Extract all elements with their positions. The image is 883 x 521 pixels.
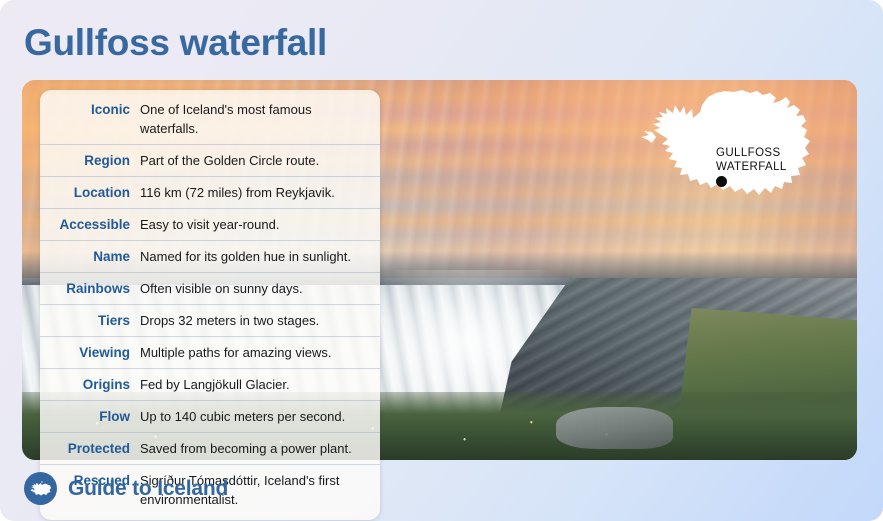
photo-foreground-rock [556,407,673,449]
table-row: Flow Up to 140 cubic meters per second. [40,401,380,433]
fact-label: Protected [52,439,140,458]
fact-label: Rainbows [52,279,140,298]
iceland-map-logo-icon [30,481,52,497]
inset-map-label: GULLFOSS WATERFALL [716,146,787,174]
table-row: Region Part of the Golden Circle route. [40,145,380,177]
fact-value: Part of the Golden Circle route. [140,151,366,170]
fact-value: Easy to visit year-round. [140,215,366,234]
gullfoss-location-dot [716,176,727,187]
fact-label: Name [52,247,140,266]
page-title: Gullfoss waterfall [24,18,327,68]
fact-value: Named for its golden hue in sunlight. [140,247,366,266]
table-row: Accessible Easy to visit year-round. [40,209,380,241]
infographic-canvas: Gullfoss waterfall GULLFOSS WATERFALL Ic… [0,0,883,521]
fact-value: Fed by Langjökull Glacier. [140,375,366,394]
fact-value: One of Iceland's most famous waterfalls. [140,100,366,138]
table-row: Iconic One of Iceland's most famous wate… [40,94,380,145]
table-row: Protected Saved from becoming a power pl… [40,433,380,465]
fact-value: 116 km (72 miles) from Reykjavik. [140,183,366,202]
footer-brand-text: Guide to Iceland [68,477,228,501]
guide-to-iceland-logo [24,472,57,505]
table-row: Location 116 km (72 miles) from Reykjavi… [40,177,380,209]
fact-label: Flow [52,407,140,426]
table-row: Viewing Multiple paths for amazing views… [40,337,380,369]
fact-label: Region [52,151,140,170]
fact-label: Tiers [52,311,140,330]
fact-value: Drops 32 meters in two stages. [140,311,366,330]
table-row: Origins Fed by Langjökull Glacier. [40,369,380,401]
facts-panel: Iconic One of Iceland's most famous wate… [40,90,380,520]
fact-label: Viewing [52,343,140,362]
fact-label: Location [52,183,140,202]
fact-value: Up to 140 cubic meters per second. [140,407,366,426]
iceland-map-inset: GULLFOSS WATERFALL [630,88,840,218]
table-row: Tiers Drops 32 meters in two stages. [40,305,380,337]
footer-branding: Guide to Iceland [24,472,228,505]
fact-label: Accessible [52,215,140,234]
fact-value: Multiple paths for amazing views. [140,343,366,362]
fact-label: Origins [52,375,140,394]
fact-value: Saved from becoming a power plant. [140,439,366,458]
fact-value: Often visible on sunny days. [140,279,366,298]
fact-label: Iconic [52,100,140,119]
table-row: Rainbows Often visible on sunny days. [40,273,380,305]
table-row: Name Named for its golden hue in sunligh… [40,241,380,273]
